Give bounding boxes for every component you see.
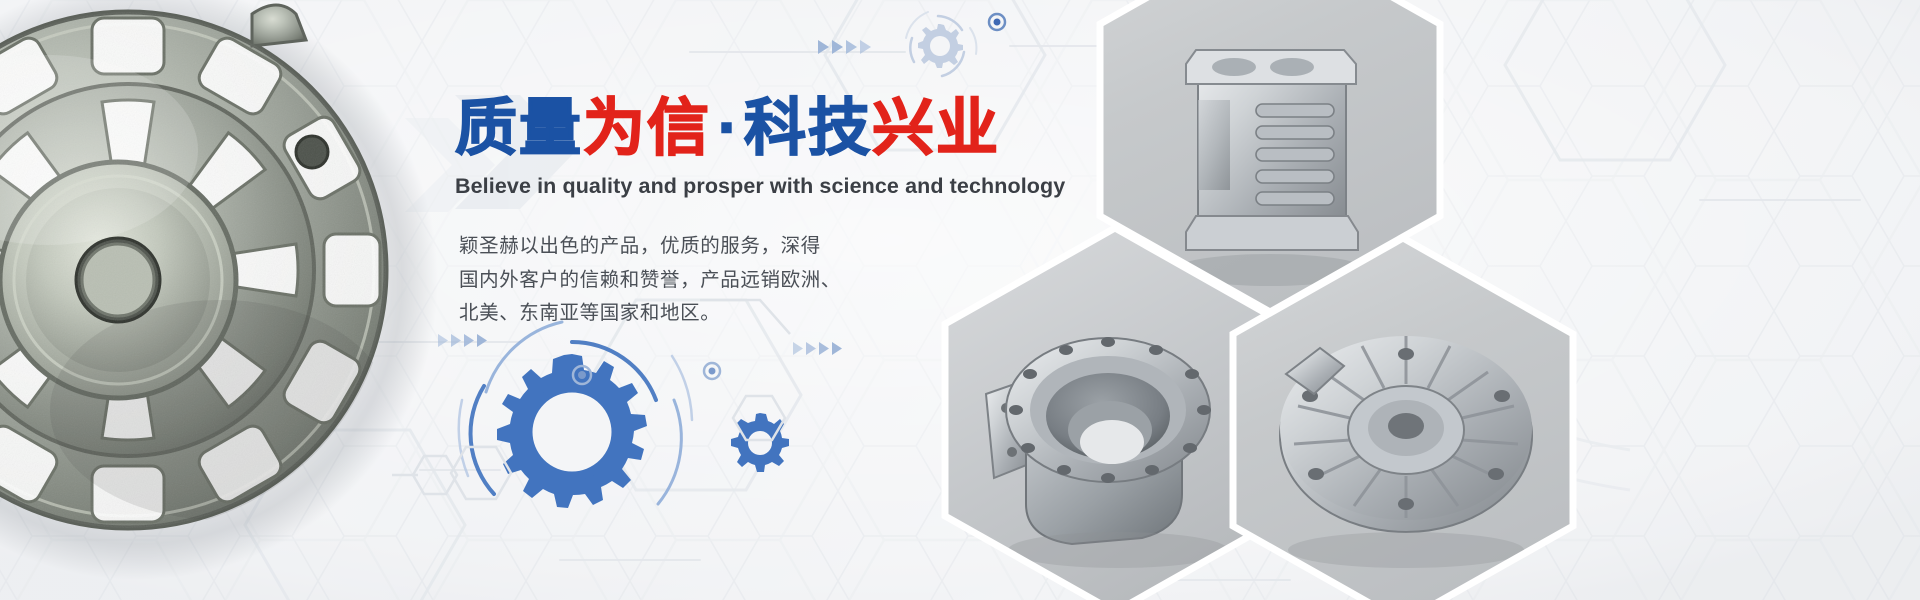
ring-gear-icon: [906, 12, 976, 76]
product-hex-top-right: [1090, 0, 1460, 330]
headline-text-block: 质量为信·科技兴业 Believe in quality and prosper…: [455, 95, 1075, 330]
ring-dot-left: [573, 366, 591, 384]
description-line-3: 北美、东南亚等国家和地区。: [459, 296, 1075, 330]
large-gear: [459, 322, 692, 508]
description-line-2: 国内外客户的信赖和赞誉，产品远销欧洲、: [459, 263, 1075, 297]
page-title: 质量为信·科技兴业: [455, 95, 1075, 160]
headline-segment-1: 质量: [455, 91, 583, 164]
headline-segment-4: 兴业: [872, 91, 1000, 164]
headline-segment-3: 科技: [744, 91, 872, 164]
promo-banner: 质量为信·科技兴业 Believe in quality and prosper…: [0, 0, 1920, 600]
arrow-chevrons-right: [793, 342, 842, 355]
arrow-chevrons-mid: [438, 334, 487, 347]
ring-dot-right: [704, 363, 720, 379]
small-gear: [731, 413, 789, 472]
subtitle-english: Believe in quality and prosper with scie…: [455, 174, 1075, 199]
cast-aluminum-wheel-hub: [0, 0, 440, 600]
description-line-1: 颖圣赫以出色的产品，优质的服务，深得: [459, 229, 1075, 263]
arrow-chevrons-top: [818, 40, 871, 54]
headline-segment-2: 为信: [583, 91, 711, 164]
description-paragraph: 颖圣赫以出色的产品，优质的服务，深得 国内外客户的信赖和赞誉，产品远销欧洲、 北…: [459, 229, 1075, 330]
headline-separator-dot: ·: [711, 99, 744, 157]
ring-dot-top: [989, 14, 1005, 30]
product-hex-bottom-right: [1223, 228, 1585, 600]
